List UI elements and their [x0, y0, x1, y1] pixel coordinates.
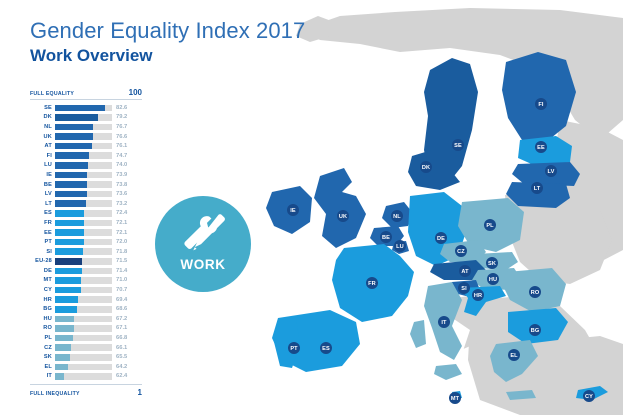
- bar-row: AT76.1: [30, 141, 142, 151]
- bar-country-code: IE: [30, 172, 55, 178]
- bar-row: CZ66.1: [30, 343, 142, 353]
- bar-row: BE73.8: [30, 180, 142, 190]
- bar-fill: [55, 114, 98, 121]
- bar-track: [55, 220, 112, 227]
- index-bar-chart: FULL EQUALITY 100 SE82.6DK79.2NL76.7UK76…: [30, 88, 142, 397]
- bar-country-code: PL: [30, 335, 55, 341]
- bar-fill: [55, 220, 84, 227]
- bar-fill: [55, 200, 86, 207]
- country-badge-HU: HU: [487, 273, 499, 285]
- country-badge-SK: SK: [486, 257, 498, 269]
- bar-value: 76.7: [112, 124, 127, 130]
- country-badge-HR: HR: [472, 289, 484, 301]
- bar-country-code: RO: [30, 325, 55, 331]
- bar-country-code: SE: [30, 105, 55, 111]
- svg-text:HU: HU: [489, 277, 497, 283]
- bar-track: [55, 258, 112, 265]
- bar-value: 73.8: [112, 182, 127, 188]
- bar-list: SE82.6DK79.2NL76.7UK76.6AT76.1FI74.7LU74…: [30, 103, 142, 381]
- bar-row: MT71.0: [30, 276, 142, 286]
- svg-text:AT: AT: [461, 269, 469, 275]
- bar-country-code: MT: [30, 277, 55, 283]
- country-badge-CY: CY: [583, 390, 595, 402]
- bar-value: 76.1: [112, 143, 127, 149]
- scale-bottom: FULL INEQUALITY 1: [30, 384, 142, 397]
- svg-text:LV: LV: [548, 169, 555, 175]
- work-domain-badge: WORK: [155, 196, 251, 292]
- bar-country-code: FR: [30, 220, 55, 226]
- work-label: WORK: [180, 257, 225, 272]
- bar-country-code: NL: [30, 124, 55, 130]
- bar-value: 73.2: [112, 201, 127, 207]
- bar-row: HU67.2: [30, 314, 142, 324]
- svg-text:SE: SE: [454, 143, 462, 149]
- bar-fill: [55, 133, 93, 140]
- country-badge-MT: MT: [449, 392, 461, 404]
- country-badge-NL: NL: [391, 210, 403, 222]
- bar-row: SI71.8: [30, 247, 142, 257]
- bar-fill: [55, 306, 77, 313]
- bar-row: FI74.7: [30, 151, 142, 161]
- bar-country-code: CZ: [30, 345, 55, 351]
- bar-fill: [55, 248, 83, 255]
- bar-track: [55, 191, 112, 198]
- scale-top: FULL EQUALITY 100: [30, 88, 142, 100]
- bar-track: [55, 114, 112, 121]
- bar-row: SK65.5: [30, 352, 142, 362]
- svg-text:SK: SK: [488, 261, 496, 267]
- bar-value: 72.0: [112, 239, 127, 245]
- bar-track: [55, 248, 112, 255]
- bar-country-code: HU: [30, 316, 55, 322]
- bar-value: 66.1: [112, 345, 127, 351]
- bar-track: [55, 133, 112, 140]
- svg-text:NL: NL: [393, 214, 401, 220]
- bar-value: 67.1: [112, 325, 127, 331]
- bar-value: 79.2: [112, 114, 127, 120]
- country-badge-CZ: CZ: [455, 245, 467, 257]
- bar-fill: [55, 239, 84, 246]
- bar-value: 72.1: [112, 220, 127, 226]
- page-subtitle: Work Overview: [30, 45, 305, 66]
- bar-track: [55, 316, 112, 323]
- bar-row: PL66.8: [30, 333, 142, 343]
- svg-text:SI: SI: [461, 286, 467, 292]
- bar-track: [55, 143, 112, 150]
- bar-value: 68.6: [112, 306, 127, 312]
- bar-fill: [55, 268, 82, 275]
- bar-row: UK76.6: [30, 132, 142, 142]
- bar-row: EU-2871.5: [30, 257, 142, 267]
- country-badge-IE: IE: [287, 204, 299, 216]
- bar-country-code: LU: [30, 162, 55, 168]
- bar-track: [55, 344, 112, 351]
- bar-value: 74.0: [112, 162, 127, 168]
- country-badge-PL: PL: [484, 219, 496, 231]
- bar-track: [55, 268, 112, 275]
- bar-row: LV73.6: [30, 189, 142, 199]
- bar-country-code: IT: [30, 373, 55, 379]
- bar-value: 76.6: [112, 134, 127, 140]
- svg-text:PT: PT: [290, 346, 298, 352]
- svg-text:DE: DE: [437, 236, 445, 242]
- bar-row: EL64.2: [30, 362, 142, 372]
- bar-country-code: EE: [30, 230, 55, 236]
- bar-value: 82.6: [112, 105, 127, 111]
- bar-fill: [55, 210, 84, 217]
- bar-track: [55, 306, 112, 313]
- country-badge-LV: LV: [545, 165, 557, 177]
- bar-country-code: AT: [30, 143, 55, 149]
- country-badge-SE: SE: [452, 139, 464, 151]
- bar-row: CY70.7: [30, 285, 142, 295]
- bar-value: 64.2: [112, 364, 127, 370]
- bar-track: [55, 172, 112, 179]
- country-badge-EL: EL: [508, 349, 520, 361]
- bar-value: 73.6: [112, 191, 127, 197]
- bar-value: 71.5: [112, 258, 127, 264]
- svg-text:IE: IE: [290, 208, 296, 214]
- country-badge-IT: IT: [438, 316, 450, 328]
- bar-track: [55, 152, 112, 159]
- bar-fill: [55, 124, 93, 131]
- bar-country-code: LV: [30, 191, 55, 197]
- svg-text:FI: FI: [538, 102, 544, 108]
- bar-fill: [55, 316, 74, 323]
- bar-row: DK79.2: [30, 113, 142, 123]
- header: Gender Equality Index 2017 Work Overview: [30, 18, 305, 66]
- svg-text:UK: UK: [339, 214, 347, 220]
- bar-country-code: ES: [30, 210, 55, 216]
- bar-row: LU74.0: [30, 161, 142, 171]
- bar-fill: [55, 344, 71, 351]
- wrench-pencil-icon: [180, 214, 226, 254]
- country-badge-AT: AT: [459, 265, 471, 277]
- bar-track: [55, 162, 112, 169]
- country-badge-BG: BG: [529, 324, 541, 336]
- bar-value: 71.8: [112, 249, 127, 255]
- bar-track: [55, 239, 112, 246]
- bar-track: [55, 210, 112, 217]
- bar-track: [55, 105, 112, 112]
- bar-fill: [55, 143, 92, 150]
- bar-country-code: EL: [30, 364, 55, 370]
- svg-text:CZ: CZ: [457, 249, 465, 255]
- country-badge-ES: ES: [320, 342, 332, 354]
- country-badge-PT: PT: [288, 342, 300, 354]
- bar-fill: [55, 172, 87, 179]
- svg-text:EE: EE: [537, 145, 545, 151]
- bar-track: [55, 373, 112, 380]
- bar-row: HR69.4: [30, 295, 142, 305]
- bar-row: LT73.2: [30, 199, 142, 209]
- svg-text:IT: IT: [441, 320, 447, 326]
- bar-country-code: UK: [30, 134, 55, 140]
- svg-text:FR: FR: [368, 281, 376, 287]
- svg-text:RO: RO: [531, 290, 540, 296]
- bar-value: 66.8: [112, 335, 127, 341]
- bar-row: NL76.7: [30, 122, 142, 132]
- bar-fill: [55, 229, 84, 236]
- full-inequality-label: FULL INEQUALITY: [30, 391, 80, 397]
- bar-fill: [55, 373, 64, 380]
- svg-text:HR: HR: [474, 293, 482, 299]
- bar-fill: [55, 162, 88, 169]
- country-badge-FI: FI: [535, 98, 547, 110]
- bar-fill: [55, 354, 70, 361]
- bar-fill: [55, 258, 82, 265]
- bar-value: 73.9: [112, 172, 127, 178]
- bar-row: EE72.1: [30, 228, 142, 238]
- country-badge-SI: SI: [458, 282, 470, 294]
- page-title: Gender Equality Index 2017: [30, 18, 305, 44]
- bar-track: [55, 277, 112, 284]
- bar-row: PT72.0: [30, 237, 142, 247]
- svg-text:ES: ES: [322, 346, 330, 352]
- bar-value: 70.7: [112, 287, 127, 293]
- svg-text:LU: LU: [396, 244, 404, 250]
- bar-value: 72.1: [112, 230, 127, 236]
- bar-track: [55, 200, 112, 207]
- bar-country-code: FI: [30, 153, 55, 159]
- bar-value: 71.4: [112, 268, 127, 274]
- svg-text:LT: LT: [534, 186, 541, 192]
- country-badge-DE: DE: [435, 232, 447, 244]
- bar-value: 71.0: [112, 277, 127, 283]
- bar-fill: [55, 296, 78, 303]
- svg-text:BE: BE: [382, 235, 390, 241]
- bar-fill: [55, 287, 81, 294]
- bar-fill: [55, 152, 89, 159]
- bar-fill: [55, 105, 105, 112]
- bar-row: IT62.4: [30, 372, 142, 382]
- bar-country-code: BG: [30, 306, 55, 312]
- bar-track: [55, 229, 112, 236]
- country-badge-RO: RO: [529, 286, 541, 298]
- bar-row: IE73.9: [30, 170, 142, 180]
- bar-value: 69.4: [112, 297, 127, 303]
- bar-country-code: LT: [30, 201, 55, 207]
- bar-track: [55, 354, 112, 361]
- full-inequality-value: 1: [138, 388, 142, 397]
- bar-track: [55, 124, 112, 131]
- svg-text:PL: PL: [486, 223, 494, 229]
- bar-country-code: CY: [30, 287, 55, 293]
- country-badge-EE: EE: [535, 141, 547, 153]
- svg-text:CY: CY: [585, 394, 593, 400]
- bar-row: BG68.6: [30, 304, 142, 314]
- bar-fill: [55, 277, 81, 284]
- bar-value: 62.4: [112, 373, 127, 379]
- bar-fill: [55, 335, 73, 342]
- bar-track: [55, 364, 112, 371]
- bar-fill: [55, 364, 68, 371]
- bar-country-code: EU-28: [30, 258, 55, 264]
- bar-value: 72.4: [112, 210, 127, 216]
- bar-row: FR72.1: [30, 218, 142, 228]
- country-badge-LT: LT: [531, 182, 543, 194]
- bar-value: 65.5: [112, 354, 127, 360]
- bar-track: [55, 296, 112, 303]
- country-badge-BE: BE: [380, 231, 392, 243]
- bar-country-code: SI: [30, 249, 55, 255]
- bar-row: RO67.1: [30, 324, 142, 334]
- bar-track: [55, 181, 112, 188]
- bar-country-code: PT: [30, 239, 55, 245]
- country-badge-LU: LU: [394, 240, 406, 252]
- bar-fill: [55, 181, 87, 188]
- bar-fill: [55, 325, 74, 332]
- bar-row: SE82.6: [30, 103, 142, 113]
- bar-country-code: SK: [30, 354, 55, 360]
- bar-track: [55, 335, 112, 342]
- bar-track: [55, 287, 112, 294]
- bar-value: 67.2: [112, 316, 127, 322]
- country-badge-UK: UK: [337, 210, 349, 222]
- infographic-page: SEFIEELVLTDKIEUKNLBELUFRDEPLCZSKATHUSIHR…: [0, 0, 623, 415]
- bar-value: 74.7: [112, 153, 127, 159]
- bar-country-code: DK: [30, 114, 55, 120]
- bar-fill: [55, 191, 87, 198]
- svg-text:EL: EL: [510, 353, 518, 359]
- country-badge-DK: DK: [420, 161, 432, 173]
- bar-track: [55, 325, 112, 332]
- svg-text:BG: BG: [531, 328, 540, 334]
- svg-text:MT: MT: [451, 396, 460, 402]
- bar-country-code: HR: [30, 297, 55, 303]
- bar-country-code: DE: [30, 268, 55, 274]
- svg-text:DK: DK: [422, 165, 430, 171]
- bar-row: ES72.4: [30, 209, 142, 219]
- full-equality-label: FULL EQUALITY: [30, 91, 74, 97]
- bar-row: DE71.4: [30, 266, 142, 276]
- bar-country-code: BE: [30, 182, 55, 188]
- country-badge-FR: FR: [366, 277, 378, 289]
- full-equality-value: 100: [129, 88, 142, 97]
